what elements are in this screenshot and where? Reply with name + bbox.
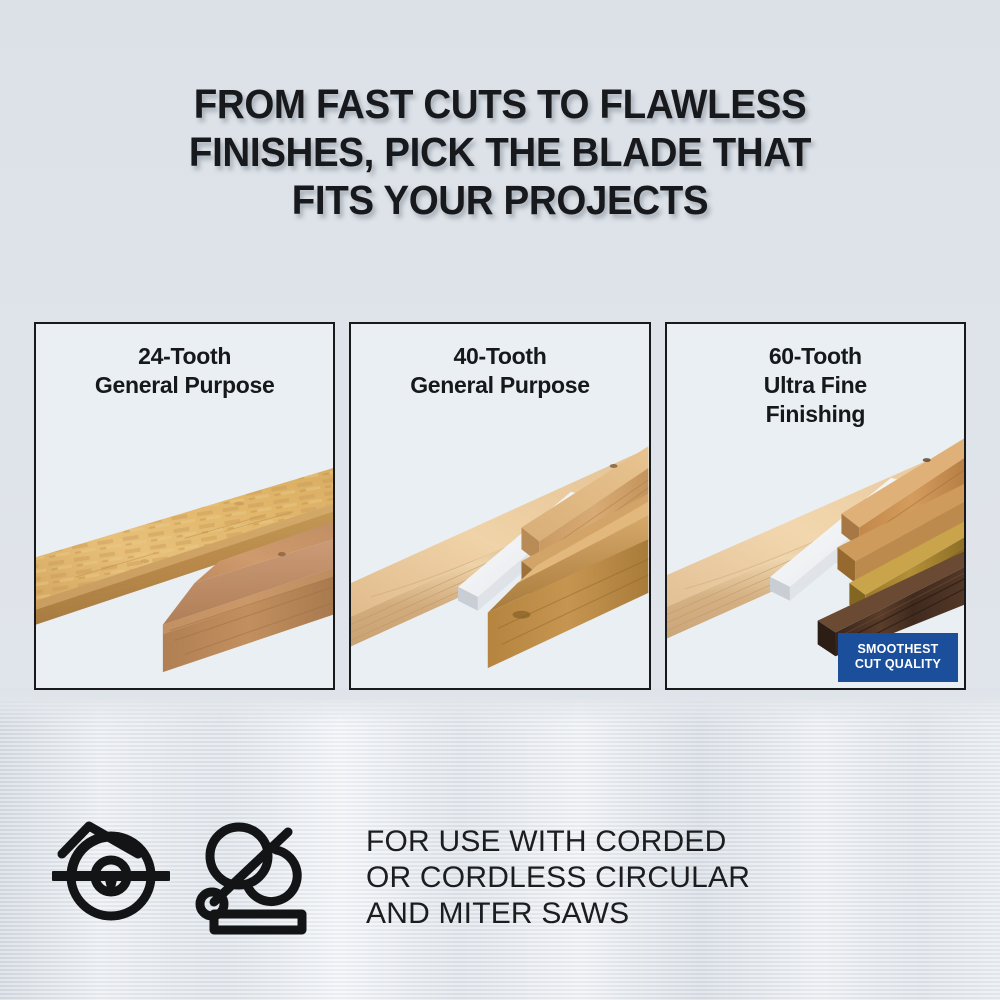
circular-saw-icon (52, 814, 170, 932)
background-seam (0, 688, 1000, 728)
headline: FROM FAST CUTS TO FLAWLESS FINISHES, PIC… (30, 80, 970, 224)
card-60-tooth-title: 60-Tooth Ultra Fine Finishing (667, 324, 964, 429)
headline-line-2: FINISHES, PICK THE BLADE THAT (30, 128, 970, 176)
card-40-tooth[interactable]: 40-Tooth General Purpose (349, 322, 650, 690)
footer-compatibility: FOR USE WITH CORDED OR CORDLESS CIRCULAR… (0, 806, 1000, 966)
card-60-tooth[interactable]: 60-Tooth Ultra Fine Finishing (665, 322, 966, 690)
headline-line-3: FITS YOUR PROJECTS (30, 176, 970, 224)
footer-text-line-1: FOR USE WITH CORDED (366, 824, 750, 860)
badge-line-1: SMOOTHEST (848, 642, 948, 657)
card-24-tooth-title-line-1: 24-Tooth (36, 342, 333, 371)
card-24-tooth-title-line-2: General Purpose (36, 371, 333, 400)
footer-text-line-3: AND MITER SAWS (366, 896, 750, 932)
footer-text: FOR USE WITH CORDED OR CORDLESS CIRCULAR… (366, 824, 750, 932)
card-40-tooth-title-line-1: 40-Tooth (351, 342, 648, 371)
status-badge: SMOOTHEST CUT QUALITY (838, 633, 958, 682)
footer-text-line-2: OR CORDLESS CIRCULAR (366, 860, 750, 896)
card-24-tooth[interactable]: 24-Tooth General Purpose (34, 322, 335, 690)
product-card-row: 24-Tooth General Purpose (34, 322, 966, 690)
footer-icon-group (52, 814, 314, 936)
badge-line-2: CUT QUALITY (848, 657, 948, 672)
card-40-tooth-title: 40-Tooth General Purpose (351, 324, 648, 400)
card-40-tooth-title-line-2: General Purpose (351, 371, 648, 400)
miter-saw-icon (192, 814, 314, 936)
card-60-tooth-title-line-1: 60-Tooth (667, 342, 964, 371)
headline-line-1: FROM FAST CUTS TO FLAWLESS (30, 80, 970, 128)
card-60-tooth-title-line-3: Finishing (667, 400, 964, 429)
infographic-page: FROM FAST CUTS TO FLAWLESS FINISHES, PIC… (0, 0, 1000, 1000)
card-24-tooth-title: 24-Tooth General Purpose (36, 324, 333, 400)
card-60-tooth-title-line-2: Ultra Fine (667, 371, 964, 400)
